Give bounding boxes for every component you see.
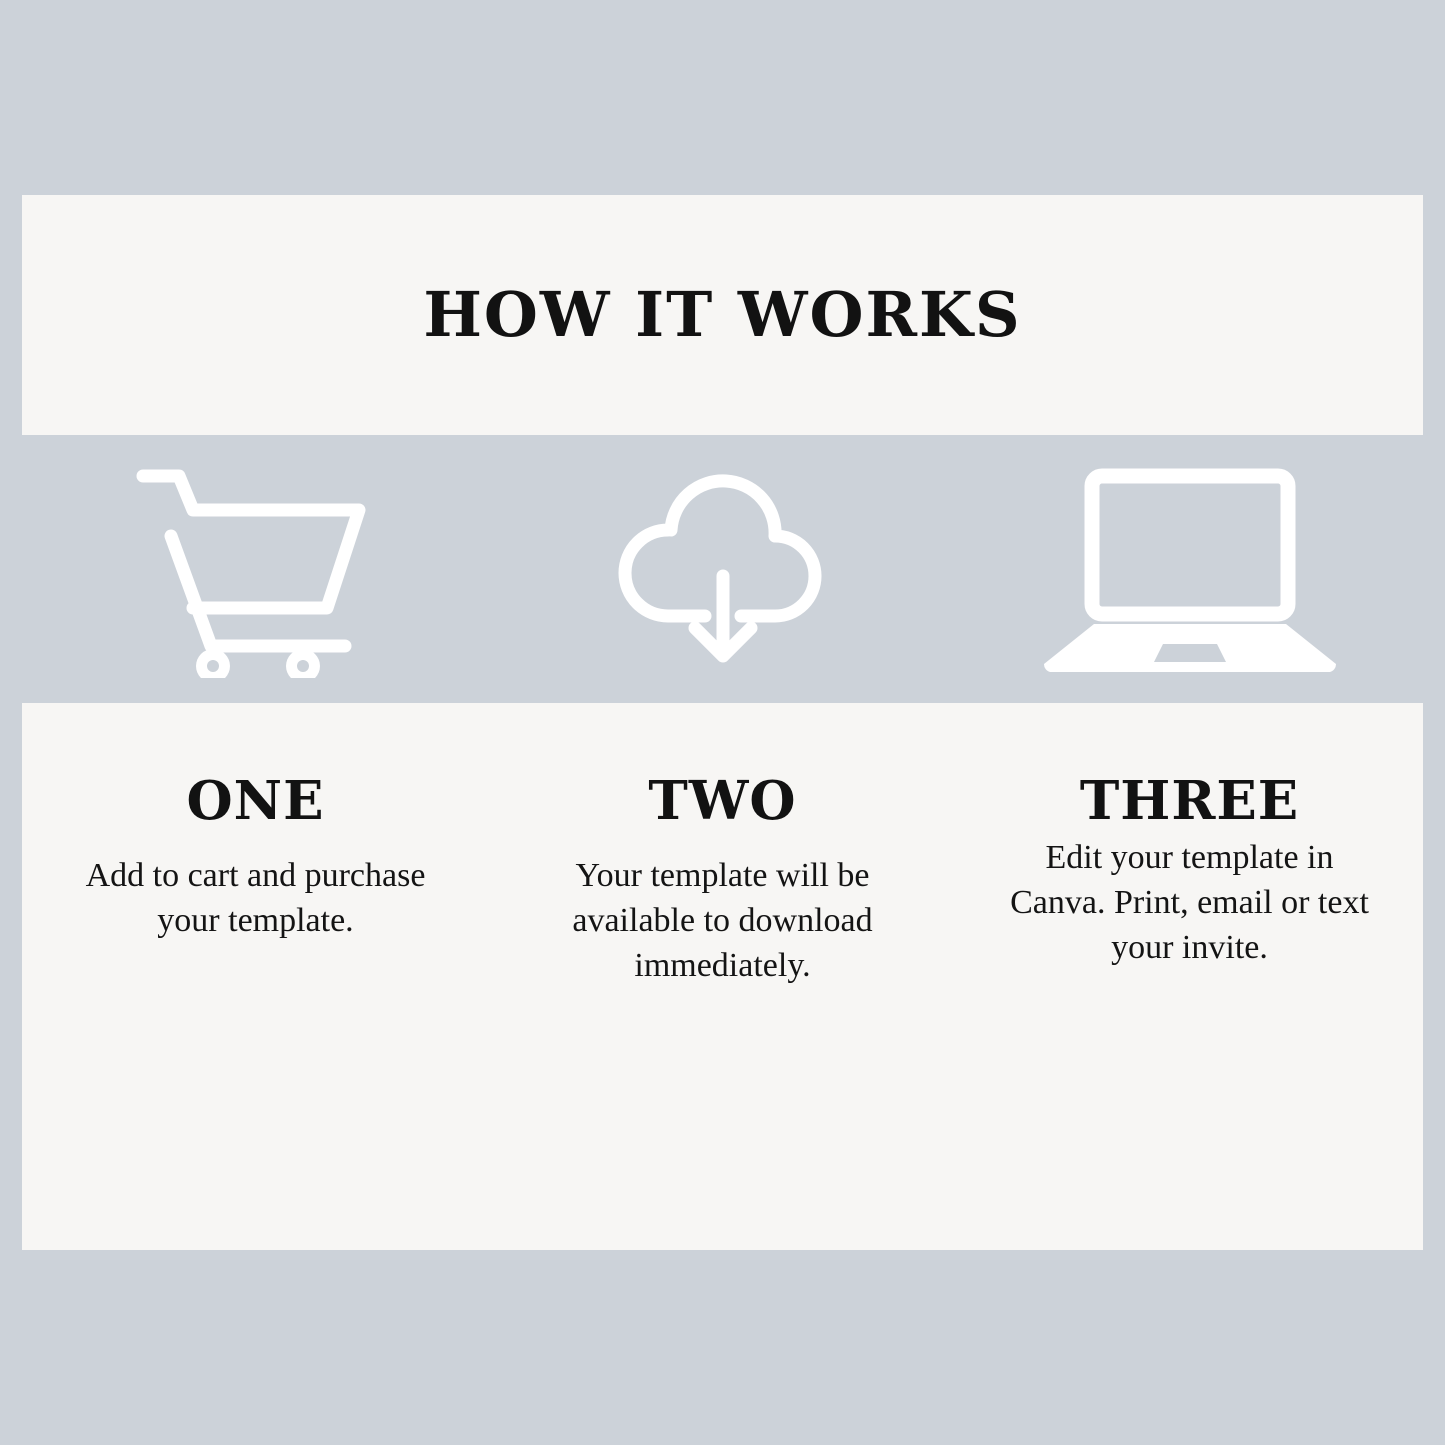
steps-row: ONE Add to cart and purchase your templa… [22, 703, 1423, 1250]
icon-cell-two [489, 440, 956, 695]
icon-cell-three [956, 440, 1423, 695]
steps-panel: ONE Add to cart and purchase your templa… [22, 703, 1423, 1250]
step-heading-one: ONE [22, 775, 489, 828]
header-panel: HOW IT WORKS [22, 195, 1423, 435]
step-body-three: Edit your template in Canva. Print, emai… [1010, 836, 1370, 971]
step-heading-three: THREE [956, 775, 1423, 828]
icon-band [22, 440, 1423, 695]
cloud-download-icon [613, 458, 833, 678]
shopping-cart-icon [131, 458, 381, 678]
step-column-one: ONE Add to cart and purchase your templa… [22, 703, 489, 944]
step-column-two: TWO Your template will be available to d… [489, 703, 956, 989]
laptop-icon [1030, 458, 1350, 678]
page-title: HOW IT WORKS [22, 284, 1423, 346]
step-body-one: Add to cart and purchase your template. [71, 854, 441, 944]
step-column-three: THREE Edit your template in Canva. Print… [956, 703, 1423, 971]
step-heading-two: TWO [489, 775, 956, 828]
step-body-two: Your template will be available to downl… [538, 854, 908, 989]
icon-cell-one [22, 440, 489, 695]
infographic-page: HOW IT WORKS [0, 0, 1445, 1445]
